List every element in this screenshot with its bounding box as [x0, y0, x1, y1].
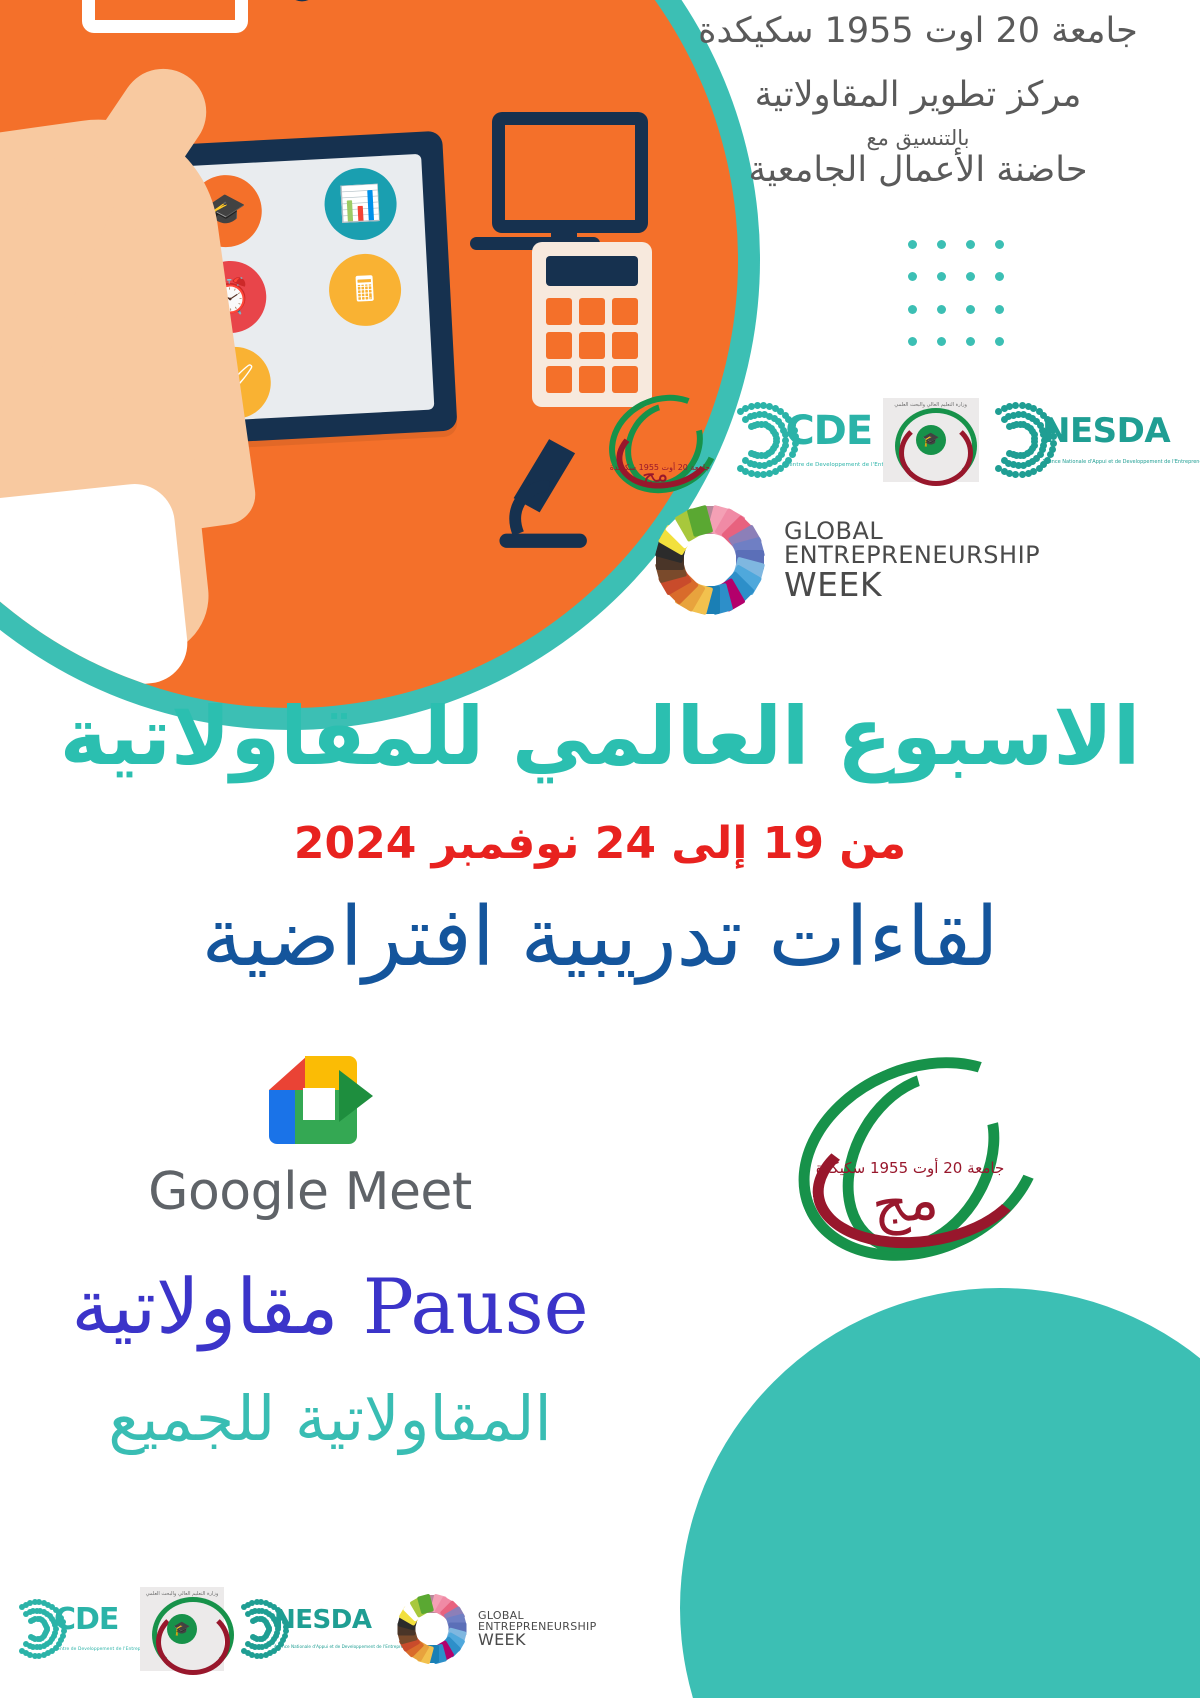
google-meet-label: Google Meet	[148, 1162, 472, 1222]
dot-matrix-decoration	[898, 228, 1014, 358]
google-meet-icon	[255, 1052, 365, 1148]
gew-line-3: WEEK	[478, 1632, 597, 1648]
coordination-label: بالتنسيق مع	[658, 126, 1178, 151]
teal-blob-decoration	[680, 1288, 1200, 1698]
university-name: جامعة 20 اوت 1955 سكيكدة	[658, 8, 1178, 55]
poster-subheadline: لقاءات تدريبية افتراضية	[0, 890, 1200, 985]
nesda-subtitle: Agence Nationale d'Appui et de Developpe…	[1042, 459, 1200, 465]
monitor-icon	[492, 112, 648, 233]
gew-line-1: GLOBAL	[784, 519, 1040, 543]
gew-line-2: ENTREPRENEURSHIP	[784, 543, 1040, 567]
center-name: مركز تطوير المقاولاتية	[658, 71, 1178, 120]
microscope-icon	[482, 432, 602, 562]
cde-logo: CDE Centre de Developpement de l'Entrepr…	[721, 400, 881, 480]
calculator-icon: 🖩	[327, 252, 403, 328]
gew-line-3: WEEK	[784, 568, 1040, 602]
google-meet-block: Google Meet	[60, 1052, 560, 1222]
graduation-cap-icon: 🎓	[916, 425, 946, 455]
ministry-logo-small: وزارة التعليم العالي والبحث العلمي 🎓	[140, 1587, 224, 1671]
poster-tagline: المقاولاتية للجميع	[0, 1382, 660, 1455]
nesda-logo: NESDA Agence Nationale d'Appui et de Dev…	[980, 400, 1180, 480]
briefcase-icon	[82, 0, 248, 33]
hero-illustration-inner: 📡 🎓 📊 🔍 ⏰ 🖩 🔬 🖌	[0, 0, 738, 708]
partner-logo-row: جامعة 20 أوت 1955 سكيكدة مج CDE Centre d…	[600, 392, 1180, 488]
bottom-logo-strip: CDE Centre de Developpement de l'Entrepr…	[6, 1574, 626, 1684]
nesda-dot-ring-icon	[228, 1598, 290, 1660]
poster-headline: الاسبوع العالمي للمقاولاتية	[0, 690, 1200, 783]
gew-logo-small: GLOBAL ENTREPRENEURSHIP WEEK	[394, 1591, 597, 1667]
cde-logo-small: CDE Centre de Developpement de l'Entrepr…	[6, 1586, 136, 1672]
sleeve-icon	[0, 480, 191, 708]
cde-dot-ring-icon	[721, 401, 799, 479]
ministry-logo-tag: وزارة التعليم العالي والبحث العلمي	[883, 402, 979, 408]
atom-icon	[237, 0, 367, 2]
ministry-logo: وزارة التعليم العالي والبحث العلمي 🎓	[883, 398, 979, 482]
graduation-cap-icon	[422, 0, 592, 2]
hero-illustration-disc: 📡 🎓 📊 🔍 ⏰ 🖩 🔬 🖌	[0, 0, 760, 730]
graduation-cap-icon: 🎓	[167, 1614, 197, 1644]
partner-name: حاضنة الأعمال الجامعية	[658, 149, 1178, 193]
gew-logo: GLOBAL ENTREPRENEURSHIP WEEK	[650, 500, 1070, 620]
poster-canvas: 📡 🎓 📊 🔍 ⏰ 🖩 🔬 🖌	[0, 0, 1200, 1698]
organizer-block: جامعة 20 اوت 1955 سكيكدة مركز تطوير المق…	[658, 8, 1178, 193]
university-logo: جامعة 20 أوت 1955 سكيكدة مج	[600, 394, 720, 486]
easel-icon: 📊	[322, 166, 398, 242]
calculator-icon	[532, 242, 652, 407]
cde-dot-ring-icon	[6, 1598, 68, 1660]
nesda-logo-small: NESDA Agence Nationale d'Appui et de Dev…	[228, 1586, 390, 1672]
nesda-abbr: NESDA	[1042, 411, 1170, 451]
event-dates: من 19 إلى 24 نوفمبر 2024	[0, 818, 1200, 869]
university-logo-large: جامعة 20 أوت 1955 سكيكدة مج	[780, 1055, 1050, 1245]
nesda-dot-ring-icon	[980, 401, 1058, 479]
pause-entrepreneurship-line: Pause مقاولاتية	[0, 1262, 660, 1351]
gew-wheel-icon	[394, 1591, 470, 1667]
gew-wheel-icon	[650, 500, 770, 620]
ministry-logo-tag: وزارة التعليم العالي والبحث العلمي	[140, 1591, 224, 1597]
